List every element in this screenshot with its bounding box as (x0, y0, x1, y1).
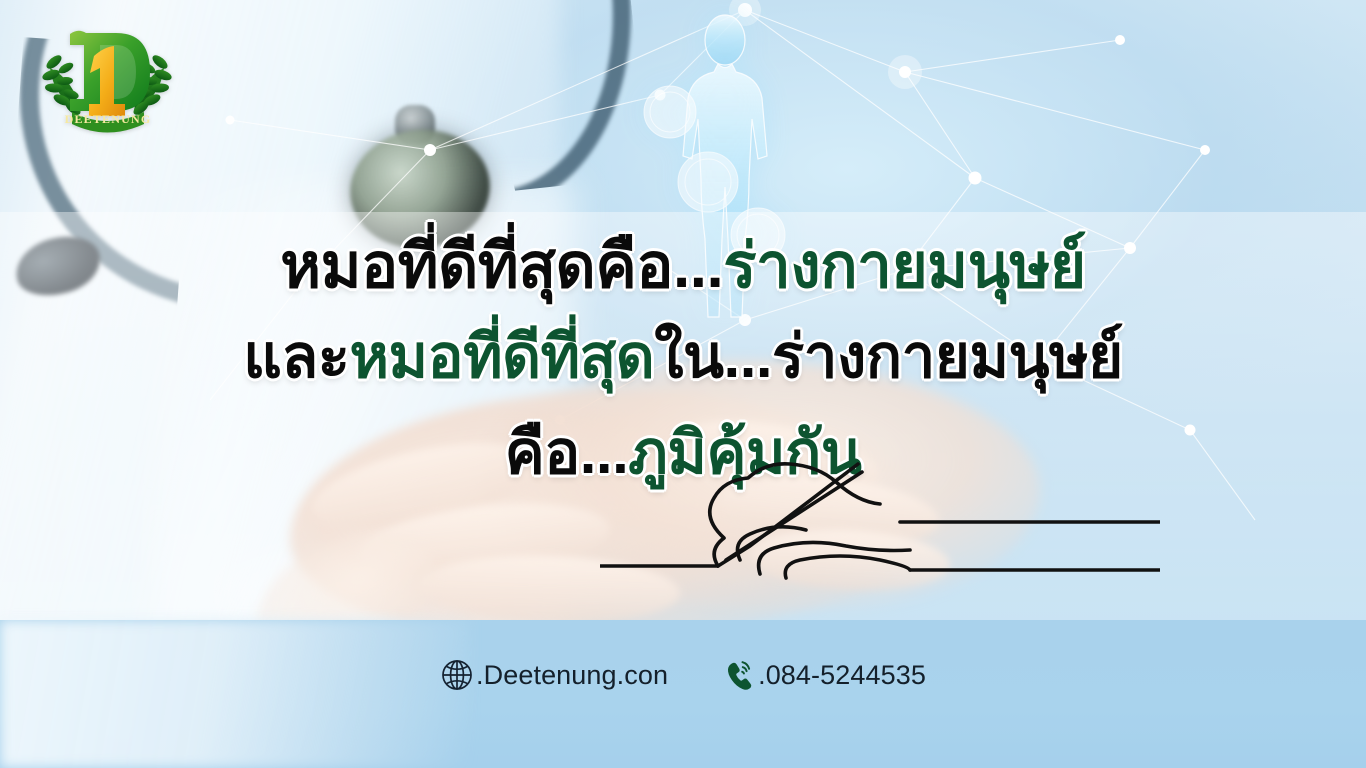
logo-banner-text: DEETENUNG (65, 112, 152, 126)
globe-icon (440, 658, 474, 692)
website-label: .Deetenung.con (476, 660, 668, 691)
headline-line-2-seg-1: และ (243, 323, 349, 390)
website-contact[interactable]: .Deetenung.con (440, 658, 668, 692)
footer-contacts: .Deetenung.con .084-5244535 (0, 658, 1366, 692)
headline-block: หมอที่ดีที่สุดคือ...ร่างกายมนุษย์ และหมอ… (0, 232, 1366, 492)
headline-line-3-seg-2: ภูมิคุ้มกัน (628, 419, 861, 486)
headline-line-1-seg-2: ร่างกายมนุษย์ (723, 232, 1086, 301)
phone-contact[interactable]: .084-5244535 (722, 658, 926, 692)
headline-line-2: และหมอที่ดีที่สุดใน...ร่างกายมนุษย์ (0, 323, 1366, 390)
logo-banner: DEETENUNG (65, 112, 152, 133)
phone-ringing-icon (722, 658, 756, 692)
phone-label: .084-5244535 (758, 660, 926, 691)
headline-line-3-seg-1: คือ... (505, 419, 629, 486)
headline-line-1: หมอที่ดีที่สุดคือ...ร่างกายมนุษย์ (0, 232, 1366, 301)
poster-canvas: DEETENUNG หมอที่ดีที่สุดคือ...ร่างกายมนุ… (0, 0, 1366, 768)
footer-coat-overlay (0, 620, 470, 768)
deetenung-logo[interactable]: DEETENUNG (32, 18, 182, 144)
headline-line-1-seg-1: หมอที่ดีที่สุดคือ... (280, 232, 723, 301)
headline-line-3: คือ...ภูมิคุ้มกัน (0, 419, 1366, 486)
headline-line-2-seg-2: หมอที่ดีที่สุด (349, 323, 654, 390)
headline-line-2-seg-3: ใน...ร่างกายมนุษย์ (654, 323, 1123, 390)
